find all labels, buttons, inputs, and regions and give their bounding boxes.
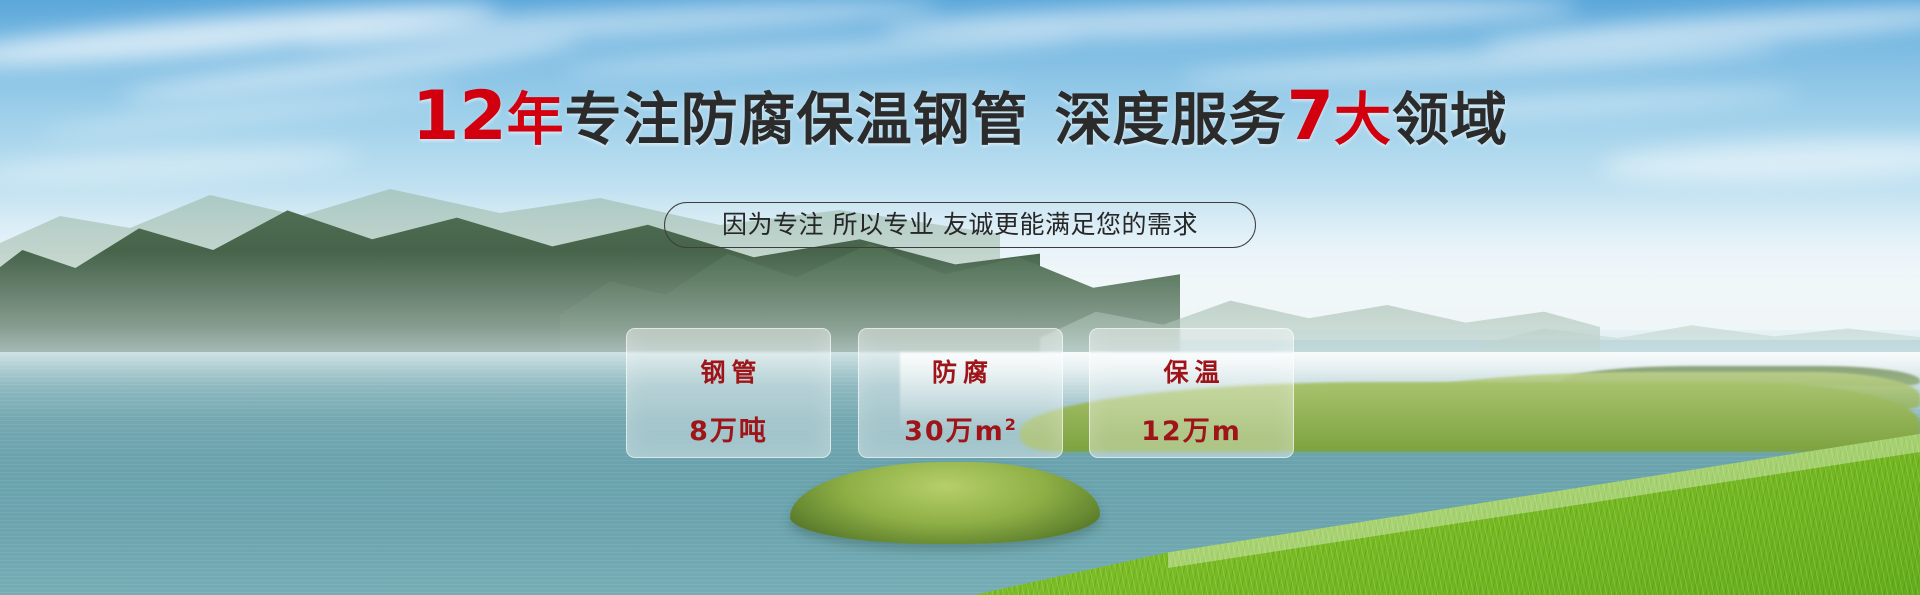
stat-card-title: 钢管	[694, 353, 762, 389]
stat-card-title: 保温	[1157, 353, 1225, 389]
promo-banner: 12年专注防腐保温钢管深度服务7大领域 因为专注 所以专业 友诚更能满足您的需求…	[0, 0, 1920, 595]
stat-card-group: 钢管 8万吨 防腐 30万m2 保温 12万m	[626, 328, 1294, 458]
stat-card-value: 8万吨	[689, 409, 768, 448]
subtitle-pill: 因为专注 所以专业 友诚更能满足您的需求	[664, 202, 1256, 248]
headline-segment-one: 专注防腐保温钢管	[565, 87, 1029, 153]
headline-fields-number: 7	[1287, 77, 1334, 156]
headline-years-unit: 年	[507, 87, 565, 153]
stat-card-value-text: 30万m	[904, 416, 1005, 447]
headline-years-number: 12	[412, 77, 507, 156]
stat-card-value: 30万m2	[904, 409, 1016, 448]
headline-fields-big: 大	[1334, 87, 1392, 153]
stat-card-steel-pipe: 钢管 8万吨	[626, 328, 831, 458]
banner-headline: 12年专注防腐保温钢管深度服务7大领域	[0, 88, 1920, 149]
stat-card-anticorrosion: 防腐 30万m2	[858, 328, 1063, 458]
stat-card-title: 防腐	[926, 353, 994, 389]
subtitle-text: 因为专注 所以专业 友诚更能满足您的需求	[722, 210, 1198, 239]
headline-segment-two: 深度服务	[1055, 87, 1287, 153]
stat-card-value-text: 8万吨	[689, 416, 768, 447]
stat-card-value-text: 12万m	[1141, 416, 1242, 447]
stat-card-insulation: 保温 12万m	[1089, 328, 1294, 458]
headline-segment-three: 领域	[1392, 87, 1508, 153]
stat-card-value: 12万m	[1141, 409, 1242, 448]
stat-card-value-superscript: 2	[1005, 415, 1016, 434]
